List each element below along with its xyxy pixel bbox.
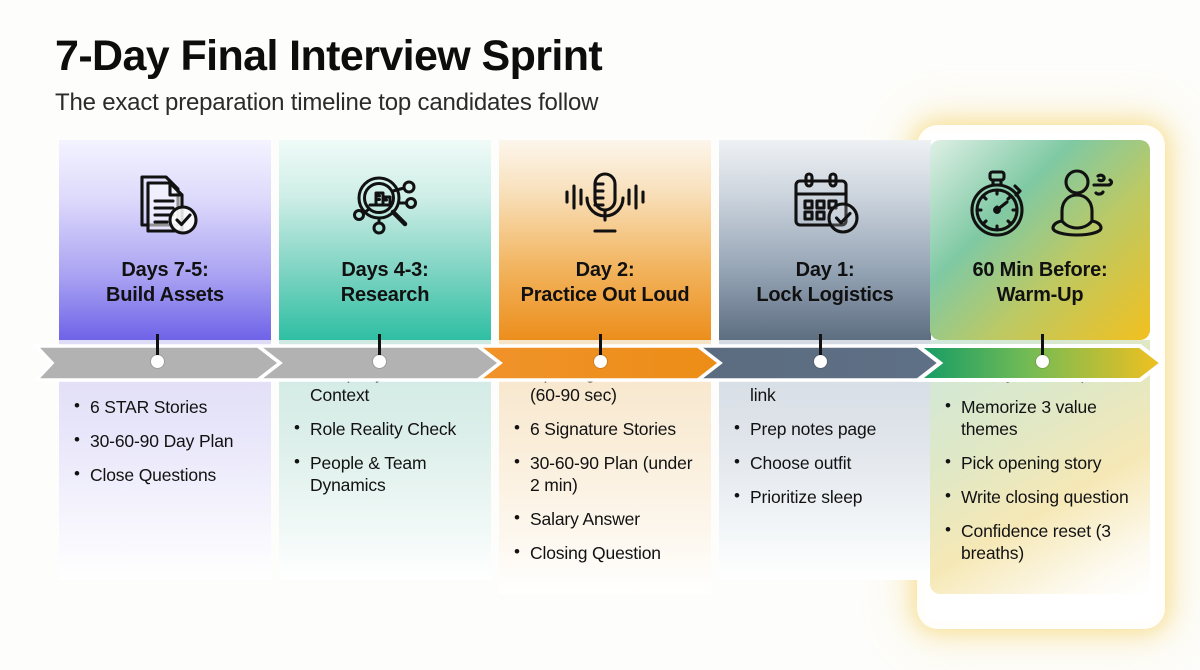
list-item: 30-60-90 Plan (under 2 min) [513,452,701,496]
stage-label-line2: Research [341,284,429,306]
list-item: Write closing question [944,486,1140,508]
timeline-dot-4 [814,355,827,368]
list-item: Close Questions [73,464,261,486]
stage-label-line2: Build Assets [106,284,224,306]
stage-label-build-assets: Days 7-5: Build Assets [65,258,265,308]
list-item: Memorize 3 value themes [944,396,1140,440]
stage-label-line1: Days 4-3: [341,259,428,281]
stage-header-build-assets: Days 7-5: Build Assets [59,140,271,340]
list-item: Role Reality Check [293,418,481,440]
calendar-check-icon [719,162,931,246]
list-item: 30-60-90 Day Plan [73,430,261,452]
timeline-dot-2 [373,355,386,368]
timeline-dot-5 [1036,355,1049,368]
stage-header-practice-out-loud: Day 2: Practice Out Loud [499,140,711,340]
stage-label-line2: Warm-Up [997,284,1084,306]
list-item: Closing Question [513,542,701,564]
header: 7-Day Final Interview Sprint The exact p… [55,34,955,117]
list-item: Prioritize sleep [733,486,921,508]
page-subtitle: The exact preparation timeline top candi… [55,89,955,117]
list-item: Salary Answer [513,508,701,530]
magnifier-building-network-icon [279,162,491,246]
timeline-dot-3 [594,355,607,368]
page-title: 7-Day Final Interview Sprint [55,34,955,80]
stage-label-line1: Day 1: [796,259,855,281]
list-item: 6 STAR Stories [73,396,261,418]
document-check-icon [59,162,271,246]
list-item: Choose outfit [733,452,921,474]
stage-header-warm-up: 60 Min Before: Warm-Up [930,140,1150,340]
list-item: 6 Signature Stories [513,418,701,440]
timeline-dot-1 [151,355,164,368]
stage-label-line2: Practice Out Loud [521,284,690,306]
stage-header-lock-logistics: Day 1: Lock Logistics [719,140,931,340]
stage-label-lock-logistics: Day 1: Lock Logistics [725,258,925,308]
stages-board: Days 7-5: Build Assets 3 Value Themes 6 … [0,140,1200,640]
list-item: Prep notes page [733,418,921,440]
list-item: People & Team Dynamics [293,452,481,496]
bullet-list-warm-up: Read job description Memorize 3 value th… [944,362,1140,564]
stage-label-practice-out-loud: Day 2: Practice Out Loud [505,258,705,308]
stage-label-research: Days 4-3: Research [285,258,485,308]
stopwatch-meditation-icon [930,162,1150,246]
bullet-list-practice-out-loud: Opening Statement (60-90 sec) 6 Signatur… [513,362,701,564]
timeline-band [0,340,1200,386]
stage-label-line2: Lock Logistics [756,284,893,306]
list-item: Pick opening story [944,452,1140,474]
infographic-root: 7-Day Final Interview Sprint The exact p… [0,0,1200,670]
stage-label-line1: Day 2: [576,259,635,281]
stage-label-warm-up: 60 Min Before: Warm-Up [936,258,1144,308]
stage-label-line1: Days 7-5: [121,259,208,281]
stage-label-line1: 60 Min Before: [972,259,1107,281]
microphone-soundwave-icon [499,162,711,246]
list-item: Confidence reset (3 breaths) [944,520,1140,564]
stage-header-research: Days 4-3: Research [279,140,491,340]
